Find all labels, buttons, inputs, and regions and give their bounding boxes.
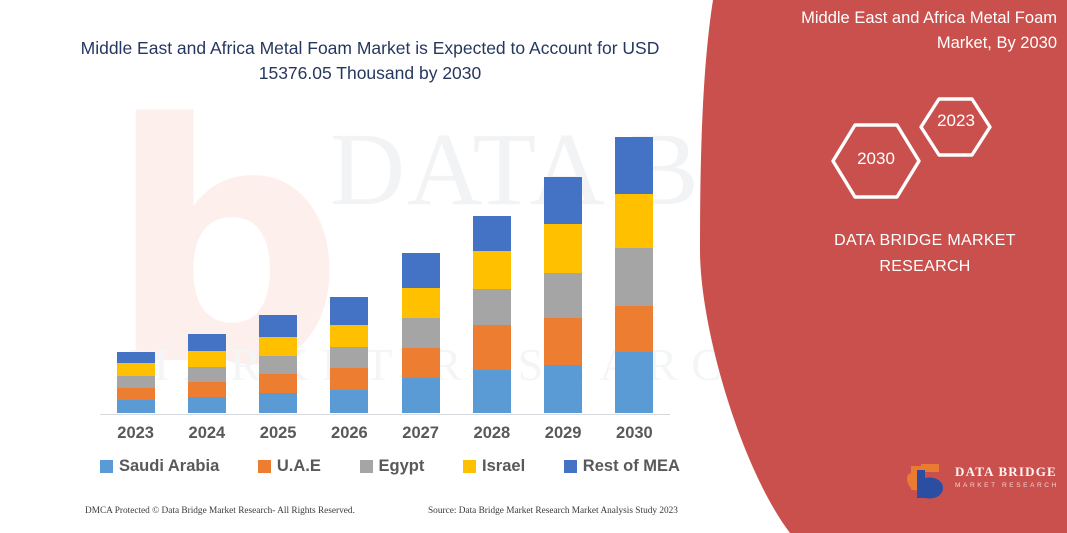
x-label-2029: 2029 <box>544 424 582 450</box>
bar-segment-israel-2030[interactable] <box>615 194 653 248</box>
bar-segment-egypt-2029[interactable] <box>544 273 582 318</box>
bar-segment-saudi-arabia-2027[interactable] <box>402 378 440 413</box>
bar-segment-egypt-2028[interactable] <box>473 289 511 326</box>
chart-plot-area <box>100 110 670 415</box>
bar-segment-rest-of-mea-2023[interactable] <box>117 352 155 363</box>
bar-segment-rest-of-mea-2026[interactable] <box>330 297 368 326</box>
legend-swatch-icon <box>100 460 113 473</box>
bar-segment-saudi-arabia-2029[interactable] <box>544 365 582 413</box>
x-label-2027: 2027 <box>402 424 440 450</box>
bar-segment-rest-of-mea-2024[interactable] <box>188 334 226 351</box>
bar-segment-egypt-2030[interactable] <box>615 248 653 306</box>
hexagon-2023-label: 2023 <box>919 111 993 131</box>
footer: DMCA Protected © Data Bridge Market Rese… <box>0 506 700 526</box>
legend-swatch-icon <box>360 460 373 473</box>
bar-segment-israel-2025[interactable] <box>259 337 297 356</box>
bar-segment-israel-2028[interactable] <box>473 251 511 289</box>
logo-line-2: MARKET RESEARCH <box>955 482 1059 489</box>
bar-2027[interactable] <box>402 253 440 413</box>
bar-segment-egypt-2026[interactable] <box>330 347 368 368</box>
bar-segment-egypt-2023[interactable] <box>117 376 155 388</box>
legend-item-rest-of-mea[interactable]: Rest of MEA <box>564 457 680 476</box>
bar-segment-u-a-e-2030[interactable] <box>615 306 653 353</box>
x-axis-line <box>100 414 670 415</box>
chart-legend: Saudi ArabiaU.A.EEgyptIsraelRest of MEA <box>100 452 680 480</box>
bar-segment-egypt-2025[interactable] <box>259 356 297 374</box>
legend-swatch-icon <box>463 460 476 473</box>
infographic-page: b DATA BRIDGE MARKET RESEARCH Middle Eas… <box>0 0 1067 533</box>
bar-group <box>100 110 670 413</box>
bar-segment-u-a-e-2029[interactable] <box>544 318 582 366</box>
bar-segment-rest-of-mea-2029[interactable] <box>544 177 582 224</box>
legend-label: Saudi Arabia <box>119 457 219 476</box>
legend-item-saudi-arabia[interactable]: Saudi Arabia <box>100 457 219 476</box>
bar-segment-israel-2027[interactable] <box>402 288 440 319</box>
legend-label: Israel <box>482 457 525 476</box>
bar-segment-saudi-arabia-2024[interactable] <box>188 397 226 413</box>
brand-name: DATA BRIDGE MARKET RESEARCH <box>800 228 1050 280</box>
bar-segment-saudi-arabia-2028[interactable] <box>473 370 511 413</box>
x-label-2028: 2028 <box>473 424 511 450</box>
bar-segment-rest-of-mea-2028[interactable] <box>473 216 511 251</box>
bar-2025[interactable] <box>259 315 297 413</box>
panel-title: Middle East and Africa Metal Foam Market… <box>745 6 1057 56</box>
x-label-2024: 2024 <box>188 424 226 450</box>
bar-segment-u-a-e-2026[interactable] <box>330 368 368 390</box>
bar-segment-u-a-e-2023[interactable] <box>117 388 155 400</box>
x-label-2026: 2026 <box>330 424 368 450</box>
bar-segment-israel-2023[interactable] <box>117 363 155 376</box>
chart-title: Middle East and Africa Metal Foam Market… <box>70 36 670 86</box>
bar-segment-rest-of-mea-2030[interactable] <box>615 137 653 194</box>
legend-swatch-icon <box>258 460 271 473</box>
bar-segment-u-a-e-2025[interactable] <box>259 374 297 393</box>
x-label-2023: 2023 <box>117 424 155 450</box>
bar-segment-israel-2029[interactable] <box>544 224 582 273</box>
legend-item-egypt[interactable]: Egypt <box>360 457 425 476</box>
bar-segment-rest-of-mea-2025[interactable] <box>259 315 297 338</box>
x-axis-labels: 20232024202520262027202820292030 <box>100 424 670 450</box>
footer-source: Source: Data Bridge Market Research Mark… <box>428 506 678 516</box>
legend-label: Rest of MEA <box>583 457 680 476</box>
x-label-2025: 2025 <box>259 424 297 450</box>
bar-segment-saudi-arabia-2023[interactable] <box>117 400 155 413</box>
bar-segment-israel-2024[interactable] <box>188 351 226 367</box>
bar-segment-saudi-arabia-2026[interactable] <box>330 390 368 413</box>
bar-segment-egypt-2027[interactable] <box>402 318 440 348</box>
footer-copyright: DMCA Protected © Data Bridge Market Rese… <box>85 506 355 516</box>
brand-line-1: DATA BRIDGE MARKET <box>800 228 1050 254</box>
bar-segment-u-a-e-2024[interactable] <box>188 382 226 397</box>
bar-segment-rest-of-mea-2027[interactable] <box>402 253 440 288</box>
legend-swatch-icon <box>564 460 577 473</box>
logo-text: DATA BRIDGE MARKET RESEARCH <box>955 464 1059 489</box>
x-label-2030: 2030 <box>615 424 653 450</box>
bar-2030[interactable] <box>615 137 653 413</box>
legend-item-u-a-e[interactable]: U.A.E <box>258 457 321 476</box>
logo-b-mark <box>905 460 951 502</box>
brand-line-2: RESEARCH <box>800 254 1050 280</box>
logo-line-1: DATA BRIDGE <box>955 464 1059 480</box>
bar-segment-saudi-arabia-2030[interactable] <box>615 352 653 413</box>
hexagon-2030-label: 2030 <box>833 149 919 169</box>
bar-2024[interactable] <box>188 334 226 413</box>
legend-item-israel[interactable]: Israel <box>463 457 525 476</box>
bar-segment-u-a-e-2027[interactable] <box>402 348 440 378</box>
hexagon-group: 2023 2030 <box>815 95 995 205</box>
bar-segment-egypt-2024[interactable] <box>188 367 226 382</box>
bar-segment-u-a-e-2028[interactable] <box>473 325 511 370</box>
bar-2029[interactable] <box>544 177 582 413</box>
bar-segment-saudi-arabia-2025[interactable] <box>259 393 297 413</box>
bar-2028[interactable] <box>473 216 511 413</box>
data-bridge-logo: DATA BRIDGE MARKET RESEARCH <box>905 460 1060 505</box>
bar-2026[interactable] <box>330 297 368 413</box>
legend-label: Egypt <box>379 457 425 476</box>
bar-2023[interactable] <box>117 352 155 413</box>
legend-label: U.A.E <box>277 457 321 476</box>
bar-segment-israel-2026[interactable] <box>330 325 368 347</box>
